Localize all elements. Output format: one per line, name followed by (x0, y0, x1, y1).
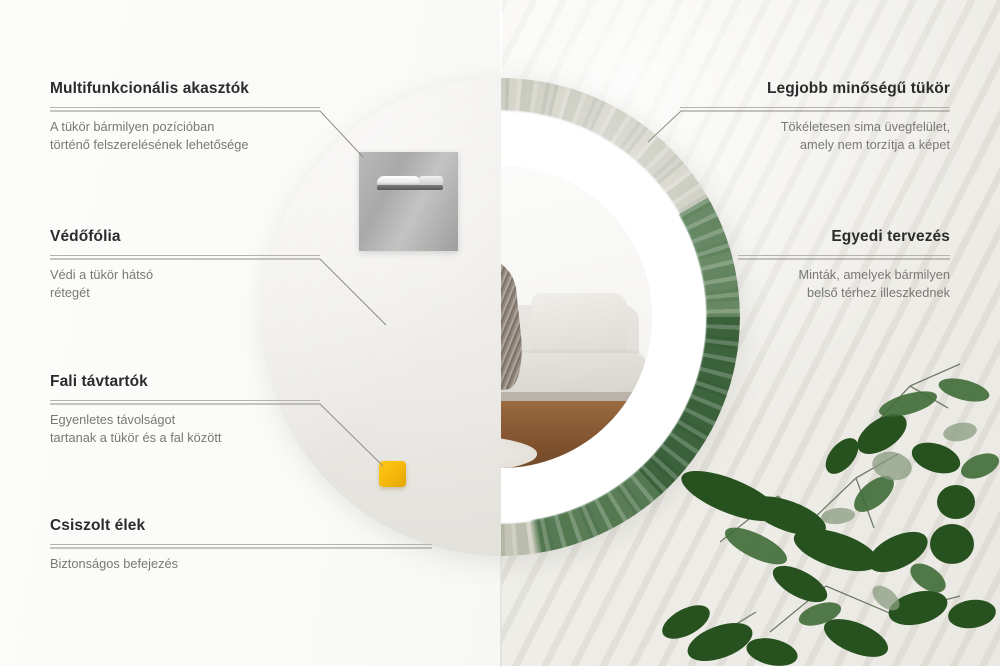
callout-multifunkcionalis-akasztok: Multifunkcionális akasztók A tükör bármi… (50, 80, 320, 153)
callout-title: Csiszolt élek (50, 517, 432, 535)
callout-rule (50, 400, 320, 401)
callout-desc: Védi a tükör hátsó rétegét (50, 266, 320, 301)
callout-egyedi-tervezes: Egyedi tervezés Minták, amelyek bármilye… (738, 228, 950, 301)
callout-fali-tavtartok: Fali távtartók Egyenletes távolságot tar… (50, 373, 320, 446)
infographic-canvas: Multifunkcionális akasztók A tükör bármi… (0, 0, 1000, 666)
callout-title: Egyedi tervezés (738, 228, 950, 246)
callout-desc: Tökéletesen sima üvegfelület, amely nem … (680, 118, 950, 153)
callout-rule (738, 255, 950, 256)
callout-desc: Egyenletes távolságot tartanak a tükör é… (50, 411, 320, 446)
callout-legjobb-minosegu-tukor: Legjobb minőségű tükör Tökéletesen sima … (680, 80, 950, 153)
callout-title: Védőfólia (50, 228, 320, 246)
callout-title: Fali távtartók (50, 373, 320, 391)
callout-desc: A tükör bármilyen pozícióban történő fel… (50, 118, 320, 153)
wall-spacer-yellow (379, 461, 406, 487)
callout-vedofolia: Védőfólia Védi a tükör hátsó rétegét (50, 228, 320, 301)
callout-rule (50, 107, 320, 108)
callout-csiszolt-elek: Csiszolt élek Biztonságos befejezés (50, 517, 432, 573)
mirror-hanger-plate (359, 152, 458, 251)
callout-desc: Minták, amelyek bármilyen belső térhez i… (738, 266, 950, 301)
callout-desc: Biztonságos befejezés (50, 555, 432, 573)
hanger-slot (377, 185, 443, 190)
callout-rule (680, 107, 950, 108)
callout-title: Multifunkcionális akasztók (50, 80, 320, 98)
product-mirror (262, 78, 740, 556)
callout-rule (50, 255, 320, 256)
reflected-cushion (531, 293, 627, 359)
callout-title: Legjobb minőségű tükör (680, 80, 950, 98)
callout-rule (50, 544, 432, 545)
